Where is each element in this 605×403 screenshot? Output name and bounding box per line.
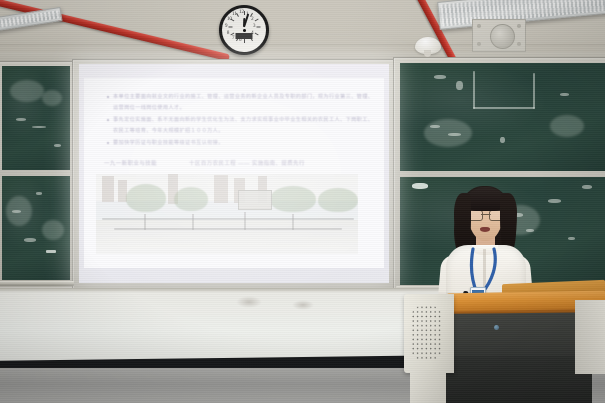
slide-footer-left: 一九一新职业与技能 [104,159,157,167]
slide-content: 本单位主要面向就业文的行业的施工、管理、运营业务的新企业人员及专职的部门，现为行… [84,78,384,268]
slide-bullet-list: 本单位主要面向就业文的行业的施工、管理、运营业务的新企业人员及专职的部门，现为行… [107,92,374,151]
left-blackboard-upper [2,66,70,170]
screw [517,42,521,46]
clock-tick [255,19,259,22]
photo-post [144,214,146,230]
clock-numeral: 8 [227,31,230,36]
photo-barrier [102,218,354,220]
wall-clock: 121234567891011 [219,5,269,55]
clock-center-pin [243,29,246,32]
wall-smudge [236,296,262,308]
smoke-detector-icon [415,37,441,54]
slide-bullet: 本单位主要面向就业文的行业的施工、管理、运营业务的新企业人员及专职的部门，现为行… [107,92,374,113]
photo-tree [318,188,358,212]
clock-numeral: 2 [251,17,254,22]
clock-numeral: 10 [227,17,232,22]
screw [477,24,481,28]
photo-building [214,175,228,203]
left-blackboard-lower [2,176,70,280]
slide-bullet: 要加快学历证与职业技能等级证书互认衔接。 [107,138,374,149]
speaker-cone [490,24,515,49]
clock-tick [257,27,261,28]
mouth [480,227,490,232]
right-blackboard-upper [400,63,605,171]
slide-footer-right: 十区百万农民工程 —— 实施指南、提质先行 [189,159,305,167]
clock-tick [255,33,259,36]
ceiling-speaker-icon [472,19,526,52]
podium-control-knob[interactable] [494,325,499,330]
clock-numeral: 3 [253,24,256,29]
clock-brand-label [236,33,253,39]
photo-post [244,212,246,230]
clock-tick [229,27,233,28]
podium-speaker-stand [410,370,446,403]
clock-tick [244,39,245,43]
projection-screen: 本单位主要面向就业文的行业的施工、管理、运营业务的新企业人员及专职的部门，现为行… [79,64,389,283]
photo-post [292,214,294,230]
slide-footer: 一九一新职业与技能 十区百万农民工程 —— 实施指南、提质先行 [104,159,374,167]
classroom-scene: 121234567891011 [0,0,605,403]
photo-barrier [114,228,342,230]
podium-right-panel [575,300,605,374]
photo-site-hut [238,190,272,210]
clock-numeral: 11 [232,12,237,17]
podium-base [442,356,592,403]
slide-photo [96,174,358,254]
podium-speaker-grille-icon [411,305,442,361]
clock-numeral: 12 [239,10,244,15]
slide-bullet: 事先定位实施面、系不无面向新的学生优化生为法、支力求实现事业中毕业生相关的农民工… [107,115,374,136]
clock-numeral: 9 [225,24,228,29]
wall-smudge [292,300,314,310]
clock-tick [230,33,234,36]
photo-tree [126,184,166,212]
photo-ground [96,220,358,254]
glasses-icon [468,210,504,219]
screw [477,42,481,46]
photo-post [192,214,194,230]
clock-numeral: 7 [232,36,235,41]
photo-tree [174,187,208,211]
clock-tick [244,11,245,15]
photo-tree [270,186,316,212]
photo-building [102,176,114,202]
left-chalk-tray [0,281,74,286]
screw [517,24,521,28]
